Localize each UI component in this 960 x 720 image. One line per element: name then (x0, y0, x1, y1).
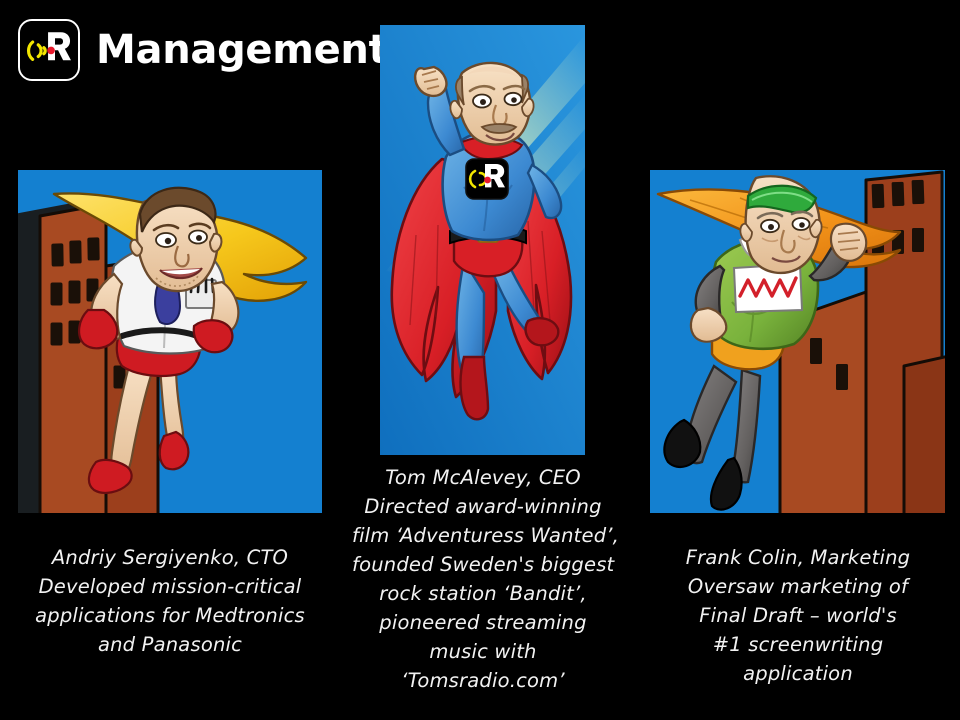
caption-line: Developed mission-critical (6, 572, 334, 601)
slide-header: Management (18, 14, 438, 86)
caption-line: pioneered streaming (352, 608, 614, 637)
illustration-frank (650, 170, 945, 513)
caption-line: founded Sweden's biggest (352, 550, 614, 579)
caption-tom: Tom McAlevey, CEO Directed award-winning… (352, 463, 614, 695)
caption-line: and Panasonic (6, 630, 334, 659)
caption-andriy: Andriy Sergiyenko, CTO Developed mission… (6, 543, 334, 659)
illustration-tom (380, 25, 585, 455)
caption-line: Tom McAlevey, CEO (352, 463, 614, 492)
caption-line: Final Draft – world's (648, 601, 948, 630)
caption-line: Directed award-winning (352, 492, 614, 521)
caption-line: ‘Tomsradio.com’ (352, 666, 614, 695)
illustration-andriy (18, 170, 322, 513)
caption-line: film ‘Adventuress Wanted’, (352, 521, 614, 550)
caption-line: Oversaw marketing of (648, 572, 948, 601)
radio-r-logo-icon (18, 19, 80, 81)
slide-management: Management (0, 0, 960, 720)
caption-line: Frank Colin, Marketing (648, 543, 948, 572)
page-title: Management (96, 30, 387, 70)
caption-line: #1 screenwriting (648, 630, 948, 659)
caption-frank: Frank Colin, Marketing Oversaw marketing… (648, 543, 948, 688)
caption-line: applications for Medtronics (6, 601, 334, 630)
caption-line: rock station ‘Bandit’, (352, 579, 614, 608)
caption-line: music with (352, 637, 614, 666)
caption-line: Andriy Sergiyenko, CTO (6, 543, 334, 572)
caption-line: application (648, 659, 948, 688)
